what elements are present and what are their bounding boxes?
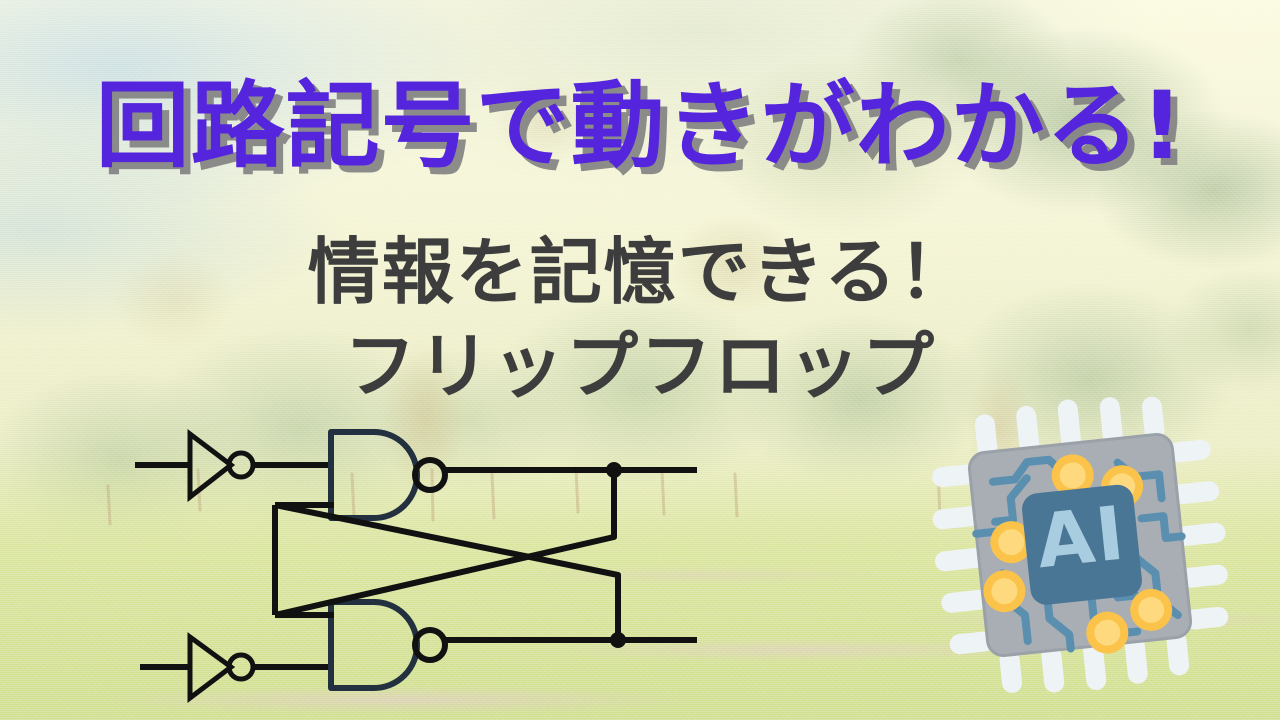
ai-chip-illustration: AI bbox=[930, 395, 1230, 695]
nand-gate-bottom-body bbox=[331, 602, 417, 688]
not-gate-bottom-triangle bbox=[190, 637, 231, 698]
not-gate-top-triangle bbox=[190, 434, 231, 497]
poster-canvas: 回路記号で動きがわかる! 情報を記憶できる！ フリップフロップ bbox=[0, 0, 1280, 720]
chip-core-label: AI bbox=[1033, 490, 1130, 585]
nand-gate-top-body bbox=[331, 432, 417, 518]
